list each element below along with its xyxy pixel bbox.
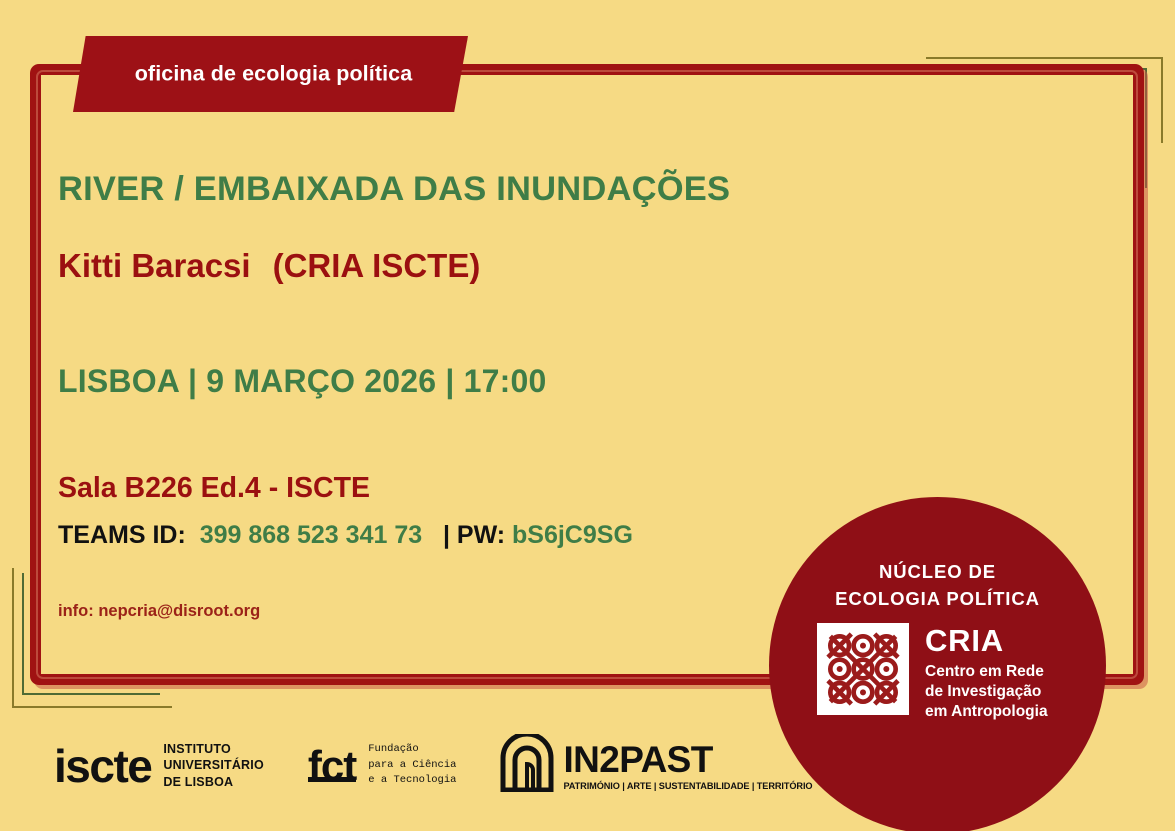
event-title: RIVER / EMBAIXADA DAS INUNDAÇÕES xyxy=(58,170,798,209)
date-location-line: LISBOA | 9 MARÇO 2026 | 17:00 xyxy=(58,363,798,400)
event-poster: oficina de ecologia política RIVER / EMB… xyxy=(0,0,1175,831)
speaker-name: Kitti Baracsi xyxy=(58,247,251,284)
fct-wordmark-group: fct xyxy=(308,746,356,786)
nucleo-heading-line1: NÚCLEO DE xyxy=(769,559,1106,586)
in2past-subtitle: PATRIMÓNIO | ARTE | SUSTENTABILIDADE | T… xyxy=(563,781,812,791)
cria-acronym: CRIA xyxy=(925,625,1048,656)
iscte-logo: iscte INSTITUTO UNIVERSITÁRIO DE LISBOA xyxy=(54,741,264,791)
cria-logo-row: CRIA Centro em Rede de Investigação em A… xyxy=(817,623,1048,721)
cria-text-block: CRIA Centro em Rede de Investigação em A… xyxy=(925,623,1048,721)
fct-logo: fct Fundação para a Ciência e a Tecnolog… xyxy=(308,742,457,789)
speaker-line: Kitti Baracsi(CRIA ISCTE) xyxy=(58,247,798,285)
nucleo-heading-line2: ECOLOGIA POLÍTICA xyxy=(769,586,1106,613)
poster-content: RIVER / EMBAIXADA DAS INUNDAÇÕES Kitti B… xyxy=(58,170,798,621)
iscte-subtitle: INSTITUTO UNIVERSITÁRIO DE LISBOA xyxy=(163,741,264,791)
fct-subtitle: Fundação para a Ciência e a Tecnologia xyxy=(368,742,456,789)
iscte-wordmark: iscte xyxy=(54,743,151,789)
cria-subtitle: Centro em Rede de Investigação em Antrop… xyxy=(925,662,1048,721)
cria-knot-icon xyxy=(817,623,909,715)
arch-icon xyxy=(500,734,554,797)
teams-password-value: bS6jC9SG xyxy=(512,521,633,549)
fct-underline-rule xyxy=(308,777,356,782)
nucleo-heading: NÚCLEO DE ECOLOGIA POLÍTICA xyxy=(769,559,1106,613)
in2past-wordmark: IN2PAST xyxy=(563,741,812,778)
teams-access-line: TEAMS ID: 399 868 523 341 73 | PW: bS6jC… xyxy=(58,521,798,550)
in2past-text-block: IN2PAST PATRIMÓNIO | ARTE | SUSTENTABILI… xyxy=(563,741,812,791)
teams-id-value: 399 868 523 341 73 xyxy=(200,521,422,549)
teams-id-label: TEAMS ID: xyxy=(58,521,186,549)
in2past-logo: IN2PAST PATRIMÓNIO | ARTE | SUSTENTABILI… xyxy=(500,734,812,797)
workshop-banner: oficina de ecologia política xyxy=(73,36,468,112)
workshop-banner-label: oficina de ecologia política xyxy=(73,62,468,87)
cria-badge: NÚCLEO DE ECOLOGIA POLÍTICA xyxy=(769,497,1106,831)
speaker-affiliation: (CRIA ISCTE) xyxy=(273,247,481,284)
contact-info: info: nepcria@disroot.org xyxy=(58,602,798,621)
venue-room: Sala B226 Ed.4 - ISCTE xyxy=(58,472,798,505)
teams-password-label: | PW: xyxy=(443,521,505,549)
footer-logos: iscte INSTITUTO UNIVERSITÁRIO DE LISBOA … xyxy=(54,734,812,797)
